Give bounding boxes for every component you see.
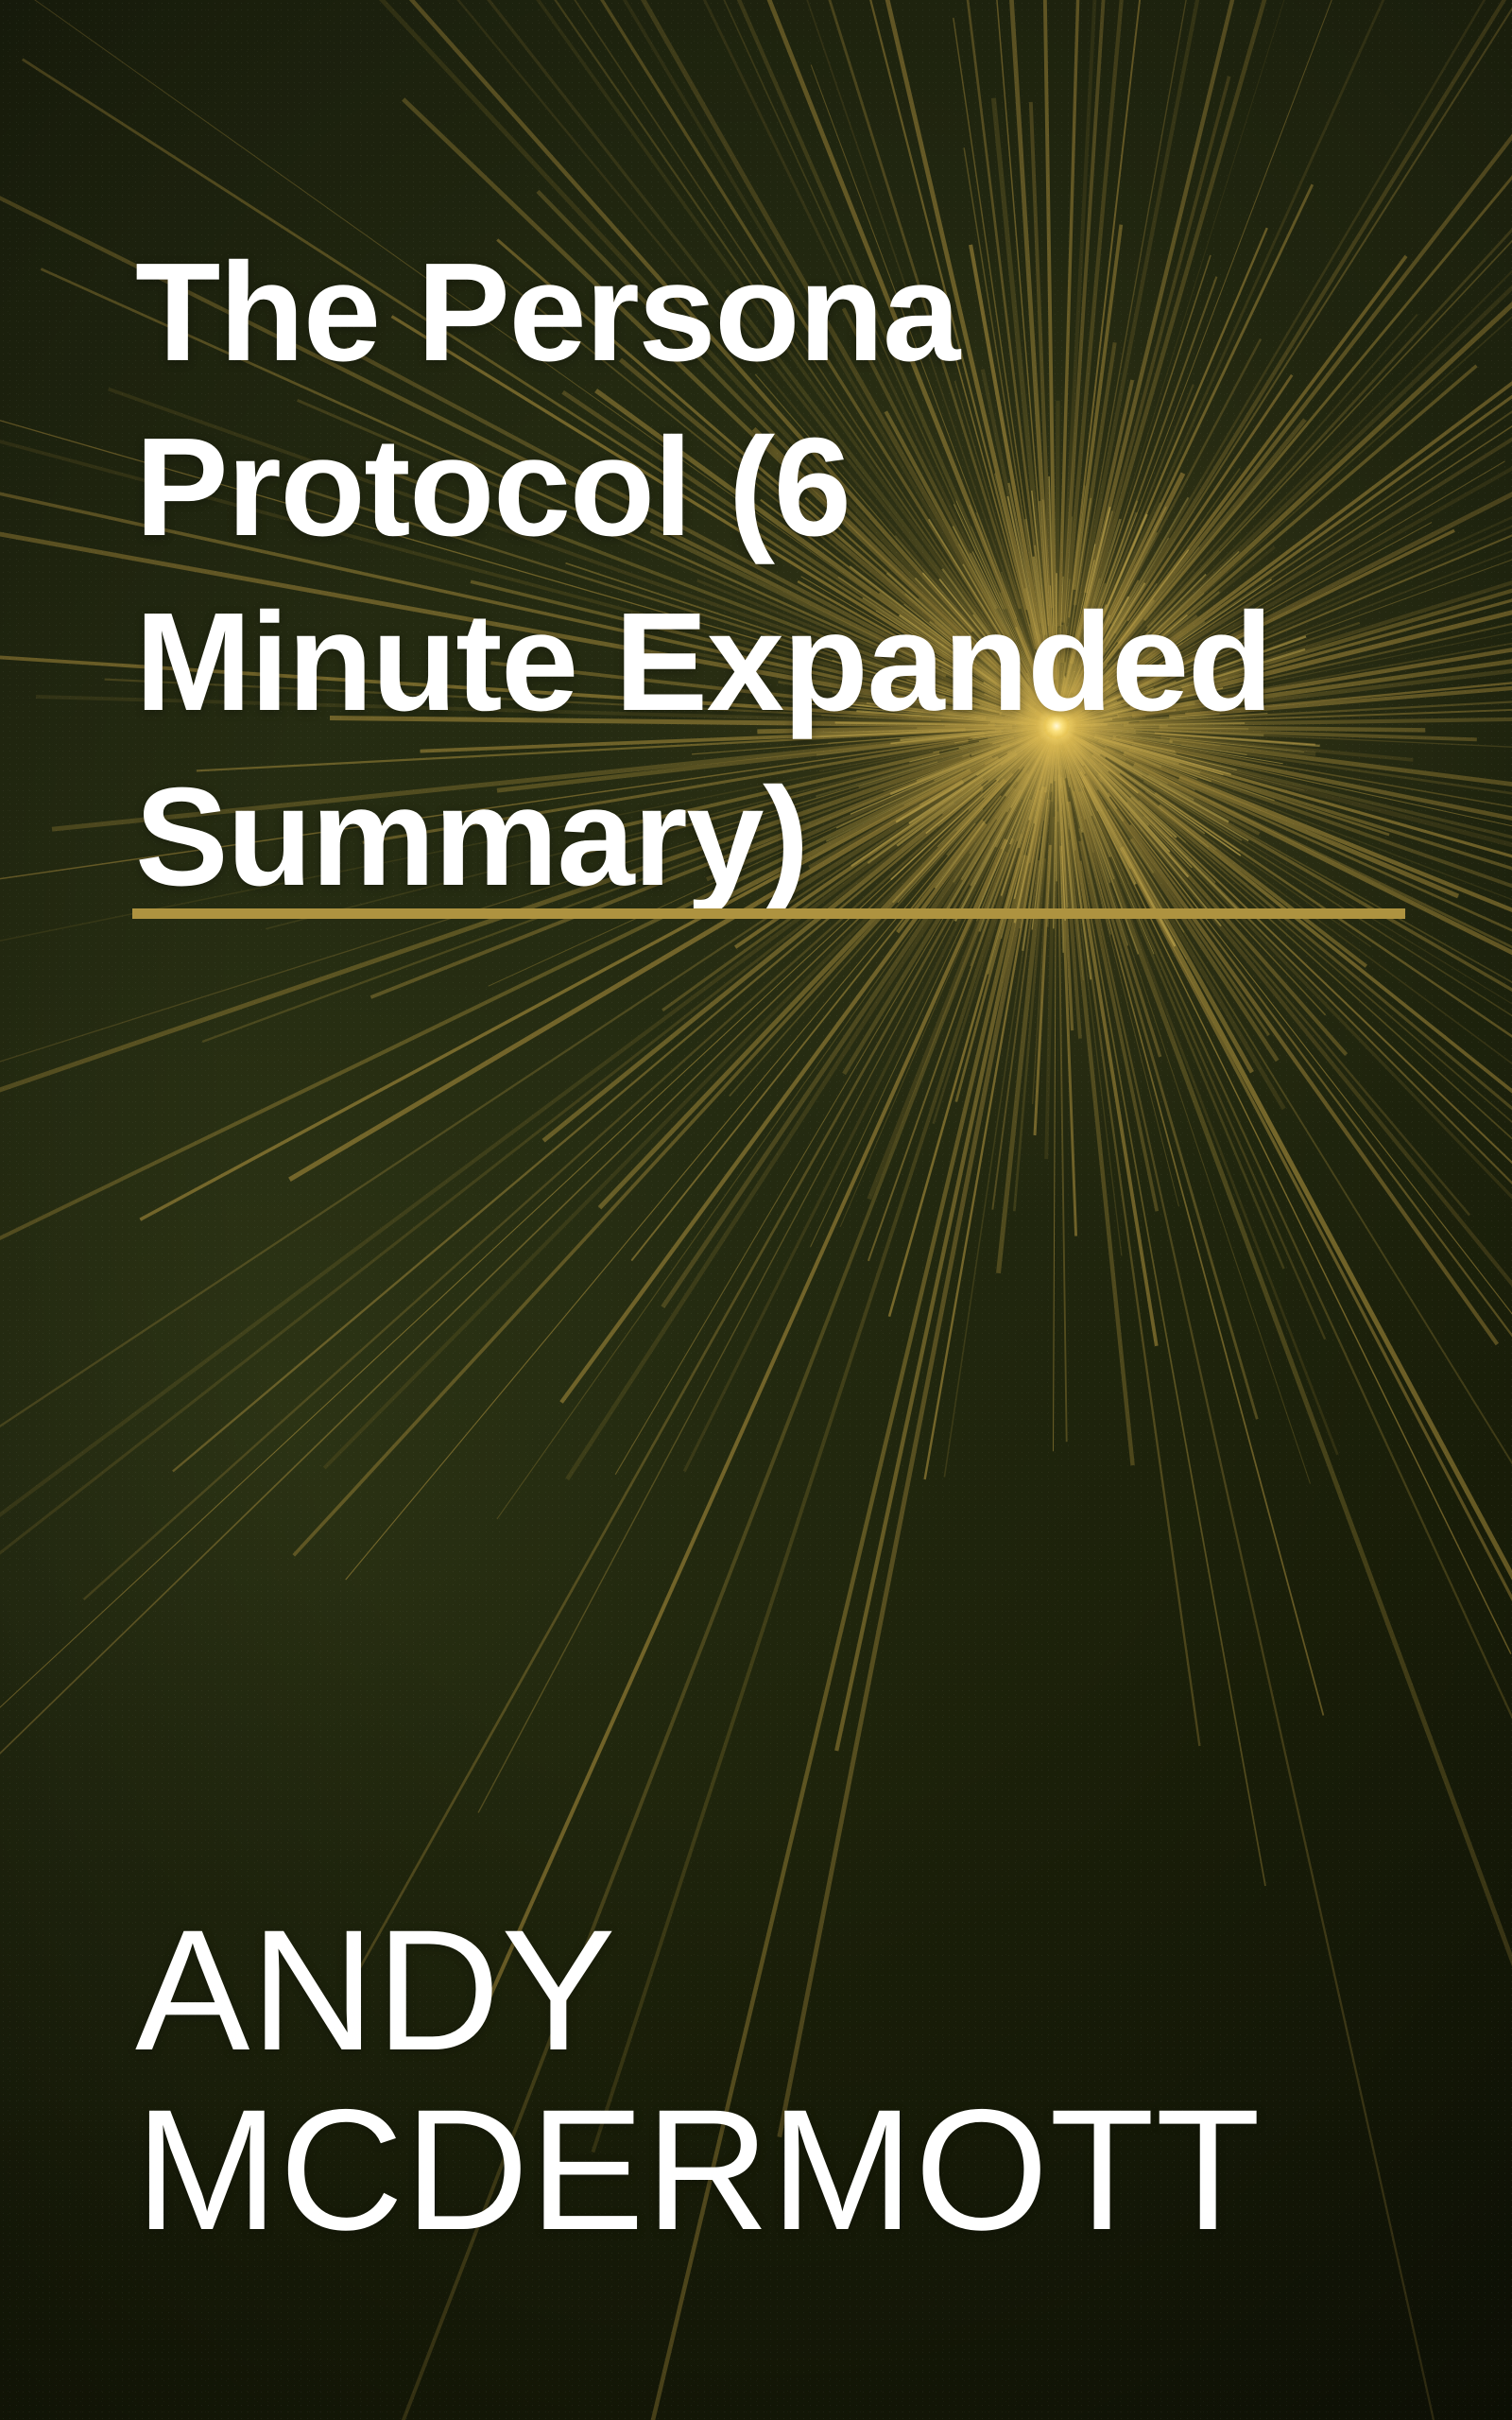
book-cover: The Persona Protocol (6 Minute Expanded … xyxy=(0,0,1512,2420)
title-line-4: Summary) xyxy=(135,750,1420,925)
title-line-1: The Persona xyxy=(135,225,1420,400)
title-line-2: Protocol (6 xyxy=(135,400,1420,575)
cover-author: ANDY MCDERMOTT xyxy=(135,1900,1458,2259)
cover-title: The Persona Protocol (6 Minute Expanded … xyxy=(135,225,1420,925)
title-line-3: Minute Expanded xyxy=(135,575,1420,750)
author-line-1: ANDY xyxy=(135,1900,1458,2080)
author-line-2: MCDERMOTT xyxy=(135,2080,1458,2259)
gold-accent-rule xyxy=(132,908,1405,919)
